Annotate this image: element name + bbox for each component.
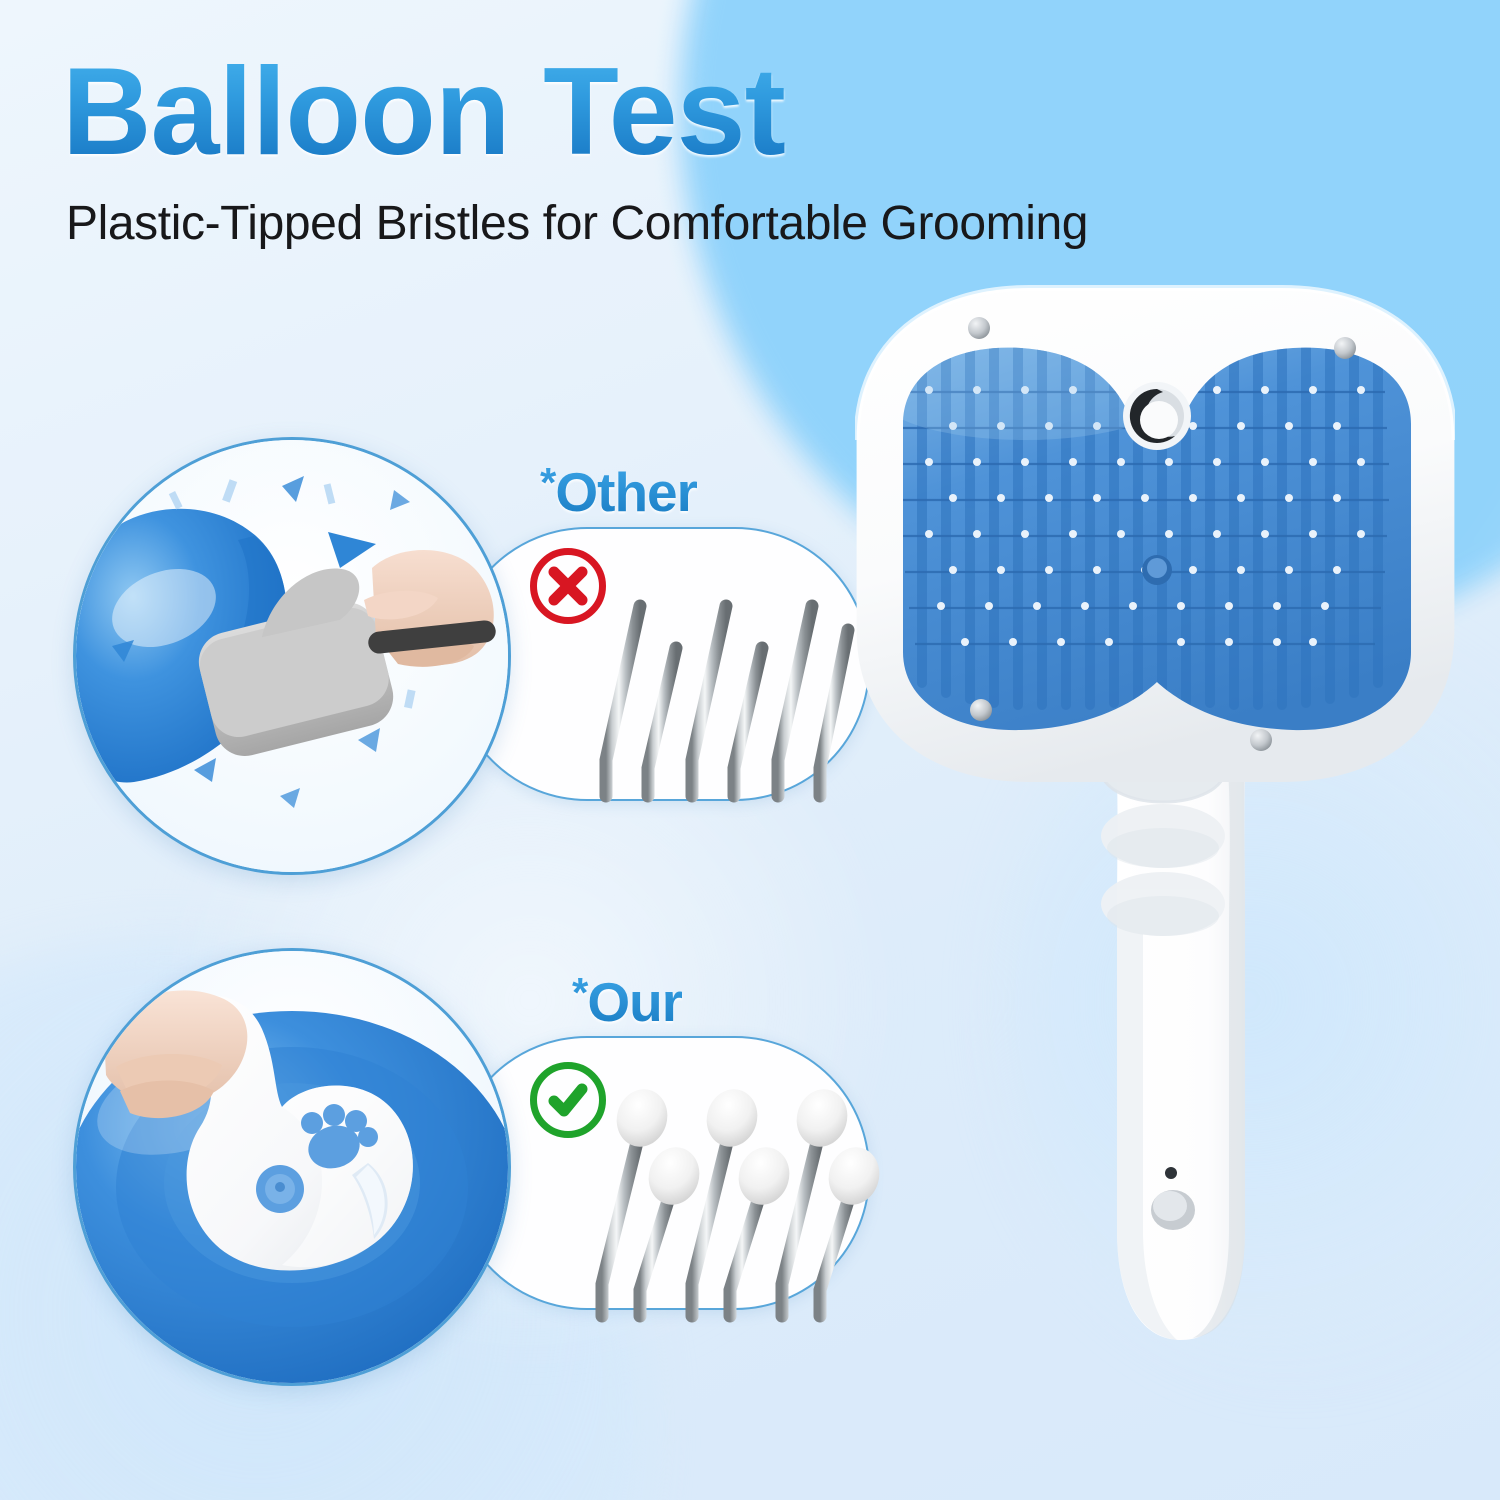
popping-balloon-illustration xyxy=(76,440,508,872)
bristle-other-1 xyxy=(606,606,640,796)
grooming-brush xyxy=(855,270,1455,1360)
release-button xyxy=(1123,382,1191,450)
screw-top-right xyxy=(1334,337,1356,359)
bristle-other-6 xyxy=(820,630,848,796)
page-subtitle: Plastic-Tipped Bristles for Comfortable … xyxy=(66,196,1088,251)
page-title: Balloon Test xyxy=(62,50,785,174)
bristle-other-5 xyxy=(778,606,812,796)
pad-center-button xyxy=(1142,555,1172,585)
our-label: *Our xyxy=(572,972,682,1030)
fail-badge xyxy=(530,548,606,624)
bristle-other-4 xyxy=(734,648,762,796)
cross-icon xyxy=(546,564,590,608)
brush-button xyxy=(256,1165,304,1213)
bristle-tip-2 xyxy=(642,1141,706,1211)
other-photo xyxy=(73,437,511,875)
handle-indicator-dot xyxy=(1165,1167,1177,1179)
bristle-tip-1 xyxy=(610,1083,674,1153)
bristle-tip-5 xyxy=(790,1083,854,1153)
screw-bottom-left xyxy=(970,699,992,721)
product-image xyxy=(855,270,1455,1360)
our-photo xyxy=(73,948,511,1386)
intact-balloon-illustration xyxy=(76,951,508,1383)
asterisk-icon: * xyxy=(572,969,587,1016)
our-label-text: Our xyxy=(587,971,682,1033)
other-label: *Other xyxy=(540,462,697,520)
bristle-other-3 xyxy=(692,606,726,796)
screw-top-left xyxy=(968,317,990,339)
our-bristles-group xyxy=(596,1090,896,1320)
screw-bottom-right xyxy=(1250,729,1272,751)
asterisk-icon: * xyxy=(540,459,555,506)
check-icon xyxy=(544,1076,592,1124)
pass-badge xyxy=(530,1062,606,1138)
other-label-text: Other xyxy=(555,461,697,523)
bristle-our-2 xyxy=(640,1188,672,1316)
bristle-tip-4 xyxy=(732,1141,796,1211)
product-infographic: Balloon Test Plastic-Tipped Bristles for… xyxy=(0,0,1500,1500)
bristle-our-4 xyxy=(730,1188,762,1316)
bristle-tip-3 xyxy=(700,1083,764,1153)
bristle-our-6 xyxy=(820,1188,852,1316)
bristle-other-2 xyxy=(648,648,676,796)
